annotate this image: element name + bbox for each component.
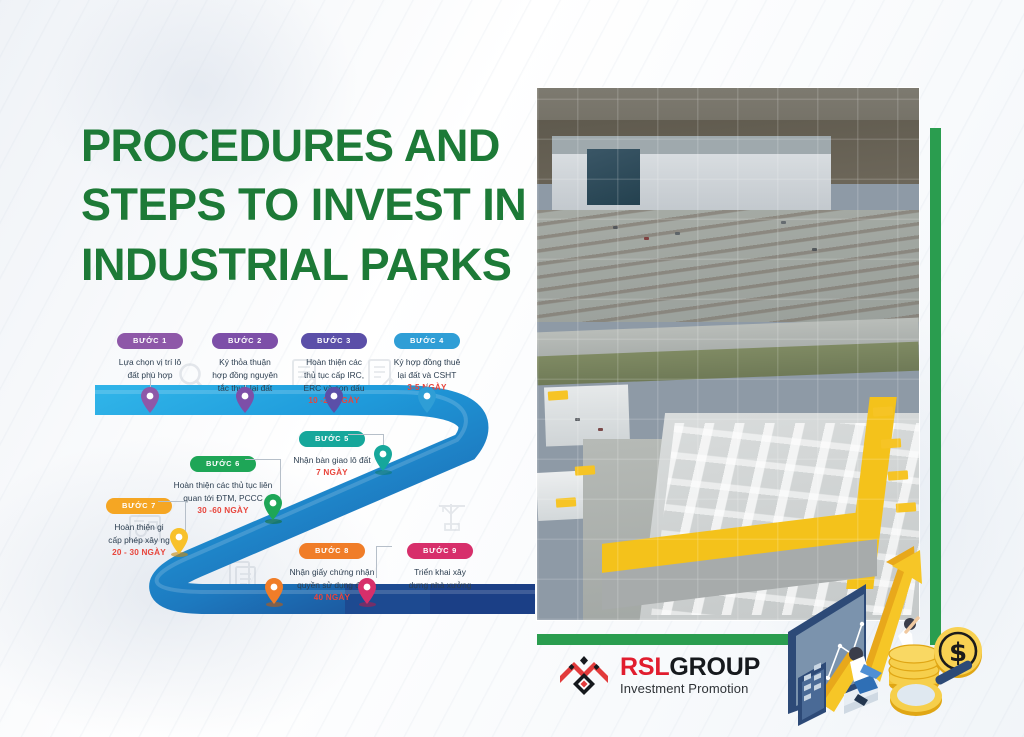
map-pin-step-9[interactable] bbox=[358, 578, 376, 604]
step-7-stem-h bbox=[158, 501, 186, 502]
step-7-badge: BƯỚC 7 bbox=[106, 498, 172, 514]
logo-brand-primary: RSL bbox=[620, 653, 669, 681]
step-2-badge: BƯỚC 2 bbox=[212, 333, 278, 349]
step-6-stem-v bbox=[280, 459, 281, 498]
step-5-stem-h bbox=[348, 434, 384, 435]
title-line-3: INDUSTRIAL PARKS bbox=[81, 235, 521, 294]
map-pin-step-7[interactable] bbox=[170, 528, 188, 554]
logo-tagline: Investment Promotion bbox=[620, 681, 760, 696]
logo-brand-name: RSLGROUP bbox=[620, 654, 760, 680]
rsl-group-logo[interactable]: RSLGROUP Investment Promotion bbox=[556, 652, 771, 706]
investment-growth-illustration: $ bbox=[782, 528, 1024, 737]
step-6-stem-h bbox=[245, 459, 281, 460]
map-pin-step-2[interactable] bbox=[236, 387, 254, 413]
step-4-badge: BƯỚC 4 bbox=[394, 333, 460, 349]
map-pin-step-8[interactable] bbox=[265, 578, 283, 604]
title-line-2: STEPS TO INVEST IN bbox=[81, 175, 521, 234]
step-9-badge: BƯỚC 9 bbox=[407, 543, 473, 559]
step-6-badge: BƯỚC 6 bbox=[190, 456, 256, 472]
rsl-diamond-emblem-icon bbox=[556, 656, 612, 702]
step-9-stem-v bbox=[376, 546, 377, 578]
step-8-badge: BƯỚC 8 bbox=[299, 543, 365, 559]
title-line-1: PROCEDURES AND bbox=[81, 116, 521, 175]
logo-text-block: RSLGROUP Investment Promotion bbox=[620, 654, 760, 696]
step-card-9[interactable]: BƯỚC 9 Triển khai xây dựng nhà xưởng bbox=[390, 540, 490, 592]
logo-brand-secondary: GROUP bbox=[669, 653, 760, 681]
poster-canvas: PROCEDURES AND STEPS TO INVEST IN INDUST… bbox=[0, 0, 1024, 737]
map-pin-step-4[interactable] bbox=[418, 387, 436, 413]
step-9-description: Triển khai xây dựng nhà xưởng bbox=[390, 566, 490, 592]
step-5-badge: BƯỚC 5 bbox=[299, 431, 365, 447]
map-pin-step-3[interactable] bbox=[325, 387, 343, 413]
accent-bar-bottom bbox=[537, 634, 800, 645]
map-pin-step-6[interactable] bbox=[264, 494, 282, 520]
poster-title: PROCEDURES AND STEPS TO INVEST IN INDUST… bbox=[81, 116, 521, 294]
map-pin-step-5[interactable] bbox=[374, 445, 392, 471]
step-9-stem-h bbox=[376, 546, 392, 547]
map-pin-step-1[interactable] bbox=[141, 387, 159, 413]
step-4-description: Ký hợp đồng thuê lại đất và CSHT bbox=[379, 356, 475, 382]
step-1-badge: BƯỚC 1 bbox=[117, 333, 183, 349]
step-3-badge: BƯỚC 3 bbox=[301, 333, 367, 349]
